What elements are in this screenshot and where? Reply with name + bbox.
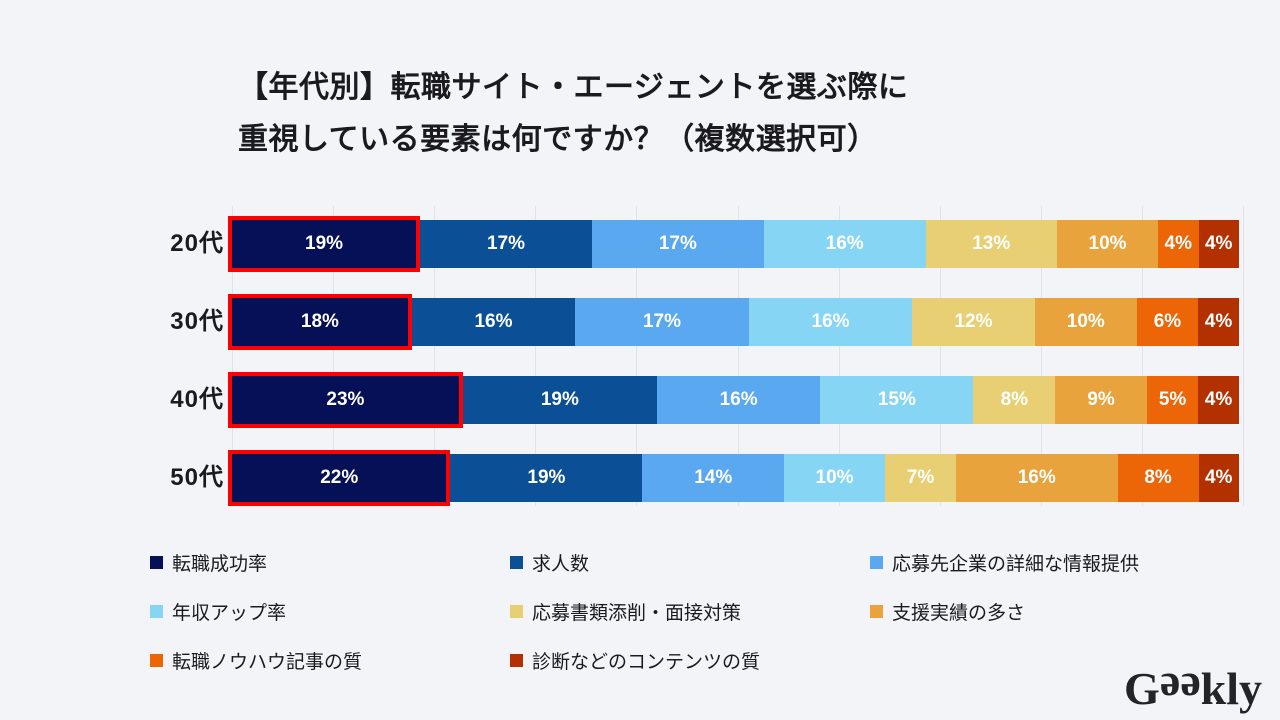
- bar-segment-value: 19%: [541, 389, 579, 411]
- bar-segment: 4%: [1158, 220, 1198, 268]
- bar-segment: 19%: [463, 376, 657, 424]
- legend-item[interactable]: 転職成功率: [150, 549, 510, 576]
- bar-segment: 16%: [412, 298, 575, 346]
- bar-segment: 16%: [749, 298, 912, 346]
- legend-row: 転職成功率求人数応募先企業の詳細な情報提供: [150, 538, 1250, 587]
- legend-item[interactable]: 応募先企業の詳細な情報提供: [870, 549, 1230, 576]
- bar-segment-value: 17%: [487, 233, 525, 255]
- bar-segment: 13%: [926, 220, 1057, 268]
- bar-segment-value: 4%: [1205, 467, 1232, 489]
- page-title: 【年代別】転職サイト・エージェントを選ぶ際に 重視している要素は何ですか？（複数…: [238, 62, 1238, 165]
- legend-swatch-icon: [510, 654, 523, 667]
- legend-label: 求人数: [532, 549, 589, 576]
- bar-segment-value: 16%: [474, 311, 512, 333]
- bar-segment: 10%: [784, 454, 885, 502]
- bar-segment-value: 22%: [320, 467, 358, 489]
- bar-segment-value: 18%: [301, 311, 339, 333]
- bar-segment-value: 10%: [1089, 233, 1127, 255]
- chart-plot-area: 20代19%17%17%16%13%10%4%4%30代18%16%17%16%…: [232, 206, 1243, 506]
- bar-segment: 16%: [956, 454, 1118, 502]
- legend-item[interactable]: 支援実績の多さ: [870, 598, 1230, 625]
- bar-segment: 18%: [228, 294, 412, 350]
- bar-segment-value: 4%: [1205, 311, 1232, 333]
- bar-segment: 23%: [228, 372, 463, 428]
- bar-segment-value: 16%: [811, 311, 849, 333]
- bar-segment: 8%: [973, 376, 1055, 424]
- bar-segment: 9%: [1055, 376, 1147, 424]
- bar-row: 19%17%17%16%13%10%4%4%: [232, 220, 1243, 268]
- bar-segment: 7%: [885, 454, 956, 502]
- bar-segment: 22%: [228, 450, 450, 506]
- legend-label: 支援実績の多さ: [892, 598, 1025, 625]
- bar-row: 18%16%17%16%12%10%6%4%: [232, 298, 1243, 346]
- bar-segment-value: 8%: [1001, 389, 1028, 411]
- legend-swatch-icon: [870, 605, 883, 618]
- legend-swatch-icon: [150, 654, 163, 667]
- bar-segment-value: 4%: [1205, 233, 1232, 255]
- legend-label: 年収アップ率: [172, 598, 286, 625]
- bar-segment: 16%: [764, 220, 926, 268]
- axis-category-label: 30代: [64, 298, 224, 346]
- legend-swatch-icon: [150, 605, 163, 618]
- bar-segment: 10%: [1057, 220, 1158, 268]
- legend-row: 転職ノウハウ記事の質診断などのコンテンツの質: [150, 636, 1250, 685]
- legend-label: 転職成功率: [172, 549, 267, 576]
- bar-rows: 20代19%17%17%16%13%10%4%4%30代18%16%17%16%…: [232, 206, 1243, 506]
- bar-segment-value: 14%: [694, 467, 732, 489]
- bar-segment-value: 10%: [1067, 311, 1105, 333]
- axis-category-label: 50代: [64, 454, 224, 502]
- bar-segment: 10%: [1035, 298, 1137, 346]
- legend-item[interactable]: 年収アップ率: [150, 598, 510, 625]
- bar-segment: 15%: [820, 376, 973, 424]
- legend-swatch-icon: [870, 556, 883, 569]
- chart-card: 【年代別】転職サイト・エージェントを選ぶ際に 重視している要素は何ですか？（複数…: [0, 0, 1280, 720]
- logo-rotated-letters: ee: [1160, 666, 1201, 712]
- bar-segment-value: 4%: [1205, 389, 1232, 411]
- gridline: [1243, 206, 1244, 506]
- axis-category-label: 40代: [64, 376, 224, 424]
- legend-item[interactable]: 診断などのコンテンツの質: [510, 647, 870, 674]
- bar-segment-value: 8%: [1144, 467, 1171, 489]
- bar-segment-value: 10%: [816, 467, 854, 489]
- bar-segment: 4%: [1198, 298, 1239, 346]
- bar-segment-value: 16%: [1018, 467, 1056, 489]
- legend-label: 応募書類添削・面接対策: [532, 598, 741, 625]
- bar-segment-value: 15%: [878, 389, 916, 411]
- bar-segment: 12%: [912, 298, 1035, 346]
- bar-segment: 19%: [450, 454, 642, 502]
- legend-item[interactable]: 応募書類添削・面接対策: [510, 598, 870, 625]
- bar-segment-value: 5%: [1159, 389, 1186, 411]
- bar-segment: 4%: [1199, 220, 1239, 268]
- bar-segment-value: 12%: [954, 311, 992, 333]
- geekly-logo: Geekly: [1124, 666, 1262, 712]
- legend-swatch-icon: [510, 605, 523, 618]
- bar-segment-value: 16%: [826, 233, 864, 255]
- bar-row: 23%19%16%15%8%9%5%4%: [232, 376, 1243, 424]
- bar-segment: 17%: [575, 298, 749, 346]
- axis-category-label: 20代: [64, 220, 224, 268]
- bar-segment: 14%: [642, 454, 784, 502]
- bar-segment-value: 23%: [326, 389, 364, 411]
- logo-prefix: G: [1124, 663, 1160, 714]
- bar-segment-value: 4%: [1165, 233, 1192, 255]
- bar-segment: 4%: [1198, 376, 1239, 424]
- bar-segment: 6%: [1137, 298, 1198, 346]
- bar-segment-value: 19%: [305, 233, 343, 255]
- bar-segment-value: 9%: [1087, 389, 1114, 411]
- legend-item[interactable]: 求人数: [510, 549, 870, 576]
- bar-segment-value: 17%: [659, 233, 697, 255]
- bar-segment-value: 7%: [907, 467, 934, 489]
- legend-swatch-icon: [150, 556, 163, 569]
- bar-segment: 17%: [420, 220, 592, 268]
- bar-segment-value: 16%: [720, 389, 758, 411]
- title-line-2: 重視している要素は何ですか？（複数選択可）: [238, 114, 1238, 166]
- title-line-1: 【年代別】転職サイト・エージェントを選ぶ際に: [238, 62, 1238, 114]
- bar-segment: 19%: [228, 216, 420, 272]
- bar-segment: 4%: [1199, 454, 1239, 502]
- legend-swatch-icon: [510, 556, 523, 569]
- legend-row: 年収アップ率応募書類添削・面接対策支援実績の多さ: [150, 587, 1250, 636]
- bar-segment-value: 6%: [1154, 311, 1181, 333]
- bar-row: 22%19%14%10%7%16%8%4%: [232, 454, 1243, 502]
- chart-legend: 転職成功率求人数応募先企業の詳細な情報提供年収アップ率応募書類添削・面接対策支援…: [150, 538, 1250, 685]
- bar-segment: 8%: [1118, 454, 1199, 502]
- bar-segment-value: 17%: [643, 311, 681, 333]
- legend-label: 診断などのコンテンツの質: [532, 647, 760, 674]
- legend-item[interactable]: 転職ノウハウ記事の質: [150, 647, 510, 674]
- bar-segment: 17%: [592, 220, 764, 268]
- logo-suffix: kly: [1201, 663, 1262, 714]
- legend-label: 応募先企業の詳細な情報提供: [892, 549, 1139, 576]
- bar-segment-value: 19%: [527, 467, 565, 489]
- legend-label: 転職ノウハウ記事の質: [172, 647, 362, 674]
- bar-segment-value: 13%: [972, 233, 1010, 255]
- bar-segment: 5%: [1147, 376, 1198, 424]
- bar-segment: 16%: [657, 376, 820, 424]
